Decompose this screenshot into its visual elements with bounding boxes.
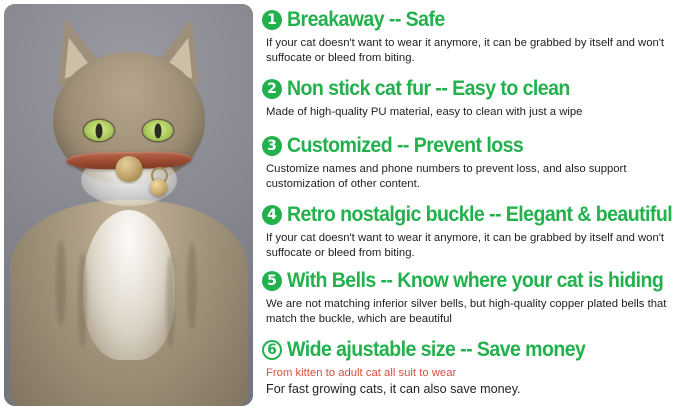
feature-body: Made of high-quality PU material, easy t…: [266, 105, 679, 120]
feature-title: Customized -- Prevent loss: [287, 134, 523, 158]
feature-heading: 6 Wide ajustable size -- Save money: [262, 338, 679, 362]
feature-title: Non stick cat fur -- Easy to clean: [287, 77, 570, 101]
cat-pupil-left: [96, 123, 103, 138]
fur-streak: [56, 240, 66, 326]
feature-title: Breakaway -- Safe: [287, 8, 445, 32]
cat-chest-highlight: [83, 210, 175, 360]
feature-highlight-line: From kitten to adult cat all suit to wea…: [266, 366, 679, 381]
feature-body-line: If your cat doesn't want to wear it anym…: [266, 232, 587, 244]
feature-body-line: We are not matching inferior silver bell…: [266, 298, 666, 310]
collar-buckle: [115, 156, 142, 182]
feature-item-5: 5 With Bells -- Know where your cat is h…: [262, 269, 679, 327]
feature-list: 1 Breakaway -- Safe If your cat doesn't …: [262, 0, 679, 409]
fur-streak: [166, 254, 175, 348]
feature-item-1: 1 Breakaway -- Safe If your cat doesn't …: [262, 8, 679, 66]
feature-item-4: 4 Retro nostalgic buckle -- Elegant & be…: [262, 203, 679, 261]
fur-streak: [187, 242, 197, 330]
number-badge-icon: 5: [262, 271, 282, 291]
number-badge-icon: 3: [262, 136, 282, 156]
number-badge-icon: 2: [262, 79, 282, 99]
feature-heading: 4 Retro nostalgic buckle -- Elegant & be…: [262, 203, 679, 227]
number-badge-icon: 4: [262, 205, 282, 225]
feature-heading: 5 With Bells -- Know where your cat is h…: [262, 269, 679, 293]
feature-title: With Bells -- Know where your cat is hid…: [287, 269, 663, 293]
feature-body: We are not matching inferior silver bell…: [266, 297, 679, 327]
feature-title: Wide ajustable size -- Save money: [287, 338, 585, 362]
collar-bell: [150, 179, 167, 196]
product-feature-graphic: 1 Breakaway -- Safe If your cat doesn't …: [0, 0, 679, 409]
feature-body: Customize names and phone numbers to pre…: [266, 162, 679, 192]
cat-product-photo: [4, 4, 253, 406]
feature-item-2: 2 Non stick cat fur -- Easy to clean Mad…: [262, 77, 679, 120]
feature-body-line: Made of high-quality PU material, easy t…: [266, 106, 582, 118]
feature-item-6: 6 Wide ajustable size -- Save money From…: [262, 338, 679, 398]
feature-title: Retro nostalgic buckle -- Elegant & beau…: [287, 203, 672, 227]
number-badge-icon: 6: [262, 340, 282, 360]
cat-pupil-right: [155, 123, 162, 138]
cat-illustration: [4, 4, 253, 406]
feature-body: If your cat doesn't want to wear it anym…: [266, 231, 679, 261]
feature-body-line: Customize names and phone numbers to pre…: [266, 163, 626, 175]
feature-heading: 1 Breakaway -- Safe: [262, 8, 679, 32]
feature-body-line: match the buckle, which are beautiful: [266, 313, 452, 325]
fur-streak: [78, 252, 87, 348]
cat-eye-left: [84, 120, 114, 141]
feature-body-line: If your cat doesn't want to wear it anym…: [266, 37, 635, 49]
cat-eye-right: [143, 120, 173, 141]
feature-body-line: customization of other content.: [266, 178, 420, 190]
feature-heading: 2 Non stick cat fur -- Easy to clean: [262, 77, 679, 101]
feature-heading: 3 Customized -- Prevent loss: [262, 134, 679, 158]
feature-body-line: For fast growing cats, it can also save …: [266, 381, 679, 398]
feature-item-3: 3 Customized -- Prevent loss Customize n…: [262, 134, 679, 192]
number-badge-icon: 1: [262, 10, 282, 30]
feature-body: If your cat doesn't want to wear it anym…: [266, 36, 679, 66]
feature-body: From kitten to adult cat all suit to wea…: [266, 366, 679, 398]
